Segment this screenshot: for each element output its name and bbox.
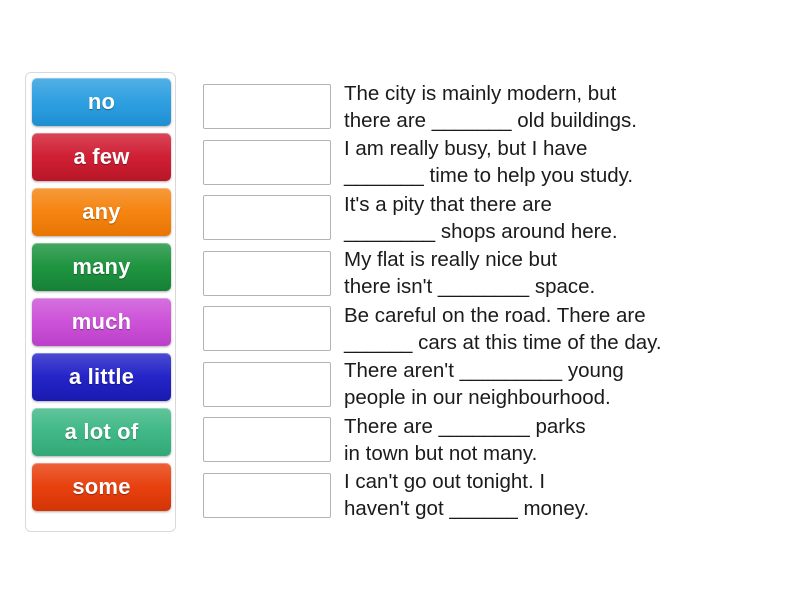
sentence-text: Be careful on the road. There are ______… [344, 302, 778, 356]
answer-row: There are ________ parks in town but not… [203, 412, 778, 468]
word-tile-label: much [72, 309, 131, 335]
draggable-tiles-panel: noa fewanymanymucha littlea lot ofsome [25, 72, 176, 532]
sentence-text: I can't go out tonight. I haven't got __… [344, 468, 778, 522]
sentence-text: The city is mainly modern, but there are… [344, 80, 778, 134]
answer-row: I can't go out tonight. I haven't got __… [203, 468, 778, 524]
answer-row: It's a pity that there are ________ shop… [203, 190, 778, 246]
word-tile[interactable]: a little [32, 353, 171, 401]
answer-dropzone[interactable] [203, 140, 331, 185]
answer-dropzone[interactable] [203, 306, 331, 351]
sentence-text: There are ________ parks in town but not… [344, 413, 778, 467]
answer-row: There aren't _________ young people in o… [203, 357, 778, 413]
sentence-text: I am really busy, but I have _______ tim… [344, 135, 778, 189]
word-tile-label: any [82, 199, 121, 225]
word-tile[interactable]: much [32, 298, 171, 346]
answer-dropzone[interactable] [203, 362, 331, 407]
word-tile[interactable]: a few [32, 133, 171, 181]
word-tile-label: some [72, 474, 130, 500]
sentence-text: It's a pity that there are ________ shop… [344, 191, 778, 245]
word-tile-label: a little [69, 364, 134, 390]
answer-dropzone[interactable] [203, 473, 331, 518]
word-tile-label: a few [73, 144, 129, 170]
answer-rows-list: The city is mainly modern, but there are… [203, 79, 778, 523]
sentence-text: There aren't _________ young people in o… [344, 357, 778, 411]
answer-dropzone[interactable] [203, 251, 331, 296]
word-tile[interactable]: some [32, 463, 171, 511]
answer-row: I am really busy, but I have _______ tim… [203, 135, 778, 191]
word-tile-label: many [72, 254, 130, 280]
word-tile[interactable]: any [32, 188, 171, 236]
sentence-text: My flat is really nice but there isn't _… [344, 246, 778, 300]
answer-dropzone[interactable] [203, 417, 331, 462]
answer-row: The city is mainly modern, but there are… [203, 79, 778, 135]
answer-dropzone[interactable] [203, 195, 331, 240]
match-up-activity: noa fewanymanymucha littlea lot ofsome T… [0, 0, 800, 600]
word-tile[interactable]: a lot of [32, 408, 171, 456]
word-tile[interactable]: many [32, 243, 171, 291]
answer-row: Be careful on the road. There are ______… [203, 301, 778, 357]
word-tile[interactable]: no [32, 78, 171, 126]
word-tile-label: a lot of [65, 419, 139, 445]
word-tile-label: no [88, 89, 115, 115]
answer-row: My flat is really nice but there isn't _… [203, 246, 778, 302]
answer-dropzone[interactable] [203, 84, 331, 129]
